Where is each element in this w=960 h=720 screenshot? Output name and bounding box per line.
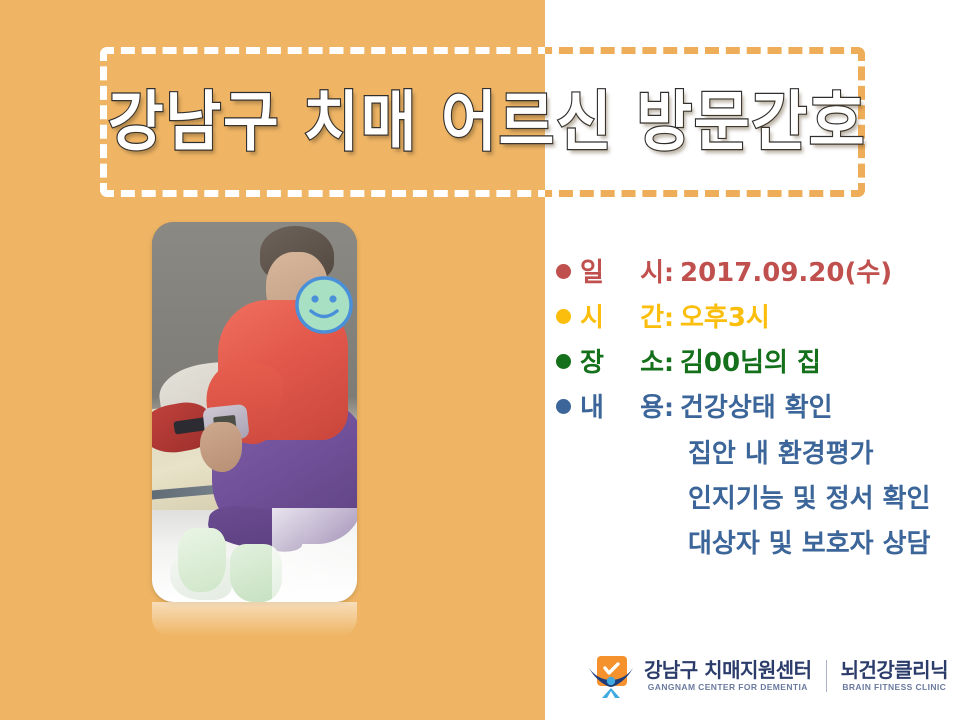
logo-text-right: 뇌건강클리닉 BRAIN FITNESS CLINIC (841, 659, 948, 693)
info-row-time: 시 간 : 오후3시 (556, 297, 952, 342)
info-row-date: 일 시 : 2017.09.20(수) (556, 252, 952, 297)
info-label-time-left: 시 (580, 297, 604, 334)
event-info-list: 일 시 : 2017.09.20(수) 시 간 : 오후3시 장 소 : 김00… (556, 252, 952, 567)
info-label-content-right: 용 (640, 387, 664, 424)
photo-scene (152, 222, 357, 602)
info-label-date: 일 시 (580, 252, 664, 289)
info-content-line-3: 인지기능 및 정서 확인 (556, 477, 952, 522)
photo-person-hand (200, 422, 242, 472)
poster-canvas: 강남구 치매 어르신 방문간호 (0, 0, 960, 720)
info-content-line-4: 대상자 및 보호자 상담 (556, 522, 952, 567)
photo-window-glare (272, 508, 357, 602)
info-value-place: 김00님의 집 (680, 342, 821, 379)
logo-right-english: BRAIN FITNESS CLINIC (841, 681, 948, 693)
info-value-time: 오후3시 (680, 297, 770, 334)
dementia-center-logo-icon (588, 654, 634, 698)
smiley-face-icon (295, 276, 353, 334)
info-row-place: 장 소 : 김00님의 집 (556, 342, 952, 387)
info-label-date-left: 일 (580, 252, 604, 289)
bullet-icon-place (556, 354, 571, 369)
bullet-icon-date (556, 264, 571, 279)
info-value-date: 2017.09.20(수) (680, 252, 892, 289)
poster-title: 강남구 치매 어르신 방문간호 (108, 68, 815, 178)
info-row-content: 내 용 : 건강상태 확인 (556, 387, 952, 432)
info-label-time: 시 간 (580, 297, 664, 334)
info-label-place-left: 장 (580, 342, 604, 379)
visit-photo (152, 222, 357, 602)
photo-sock-left (178, 528, 226, 592)
logo-left-english: GANGNAM CENTER FOR DEMENTIA (644, 681, 812, 693)
info-label-date-right: 시 (640, 252, 664, 289)
info-colon-content: : (664, 393, 680, 422)
bullet-icon-content (556, 399, 571, 414)
logo-right-korean: 뇌건강클리닉 (841, 659, 948, 681)
info-label-place-right: 소 (640, 342, 664, 379)
logo-text-left: 강남구 치매지원센터 GANGNAM CENTER FOR DEMENTIA (644, 659, 812, 693)
info-colon-place: : (664, 348, 680, 377)
logo-divider (826, 660, 827, 692)
info-label-place: 장 소 (580, 342, 664, 379)
info-content-line-2: 집안 내 환경평가 (556, 432, 952, 477)
info-label-content-left: 내 (580, 387, 604, 424)
bullet-icon-time (556, 309, 571, 324)
info-value-content: 건강상태 확인 (680, 387, 833, 424)
info-label-content: 내 용 (580, 387, 664, 424)
info-colon-time: : (664, 303, 680, 332)
logo-left-korean: 강남구 치매지원센터 (644, 659, 812, 681)
info-label-time-right: 간 (640, 297, 664, 334)
info-colon-date: : (664, 258, 680, 287)
footer-logo: 강남구 치매지원센터 GANGNAM CENTER FOR DEMENTIA 뇌… (588, 652, 948, 700)
